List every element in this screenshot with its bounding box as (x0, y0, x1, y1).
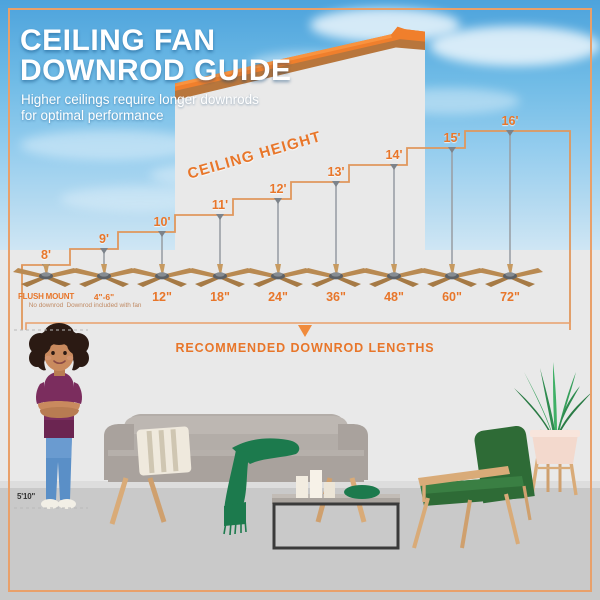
throw-pillow (136, 426, 191, 476)
table-bowl (344, 485, 380, 499)
living-room-scene (0, 0, 600, 600)
person-height-label: 5'10" (17, 492, 35, 501)
infographic-canvas: CEILING HEIGHT (0, 0, 600, 600)
